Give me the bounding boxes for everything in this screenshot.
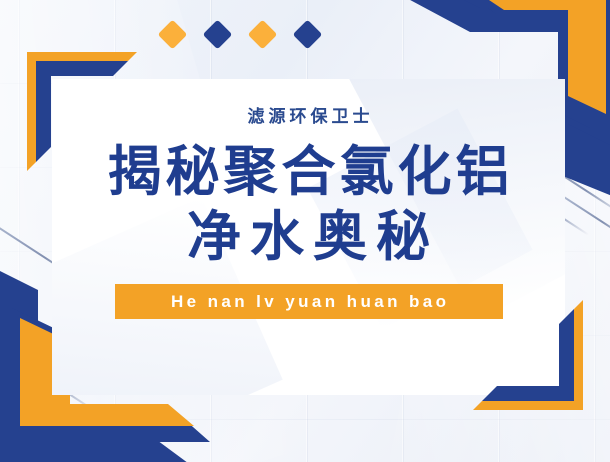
poster-text-block: 滤源环保卫士 揭秘聚合氯化铝 净水奥秘 He nan lv yuan huan … bbox=[52, 79, 565, 395]
diamond-4-icon bbox=[293, 20, 323, 50]
headline-line-1: 揭秘聚合氯化铝 bbox=[104, 144, 514, 200]
headline-line-2: 净水奥秘 bbox=[178, 209, 439, 265]
brand-subtitle: 滤源环保卫士 bbox=[244, 102, 374, 127]
poster-canvas: 滤源环保卫士 揭秘聚合氯化铝 净水奥秘 He nan lv yuan huan … bbox=[0, 0, 610, 462]
diamond-3-icon bbox=[248, 20, 278, 50]
diamond-2-icon bbox=[203, 20, 233, 50]
pinyin-banner-text: He nan lv yuan huan bao bbox=[168, 292, 450, 312]
diamond-1-icon bbox=[158, 20, 188, 50]
pinyin-banner: He nan lv yuan huan bao bbox=[115, 284, 503, 319]
diamond-row bbox=[162, 24, 318, 45]
